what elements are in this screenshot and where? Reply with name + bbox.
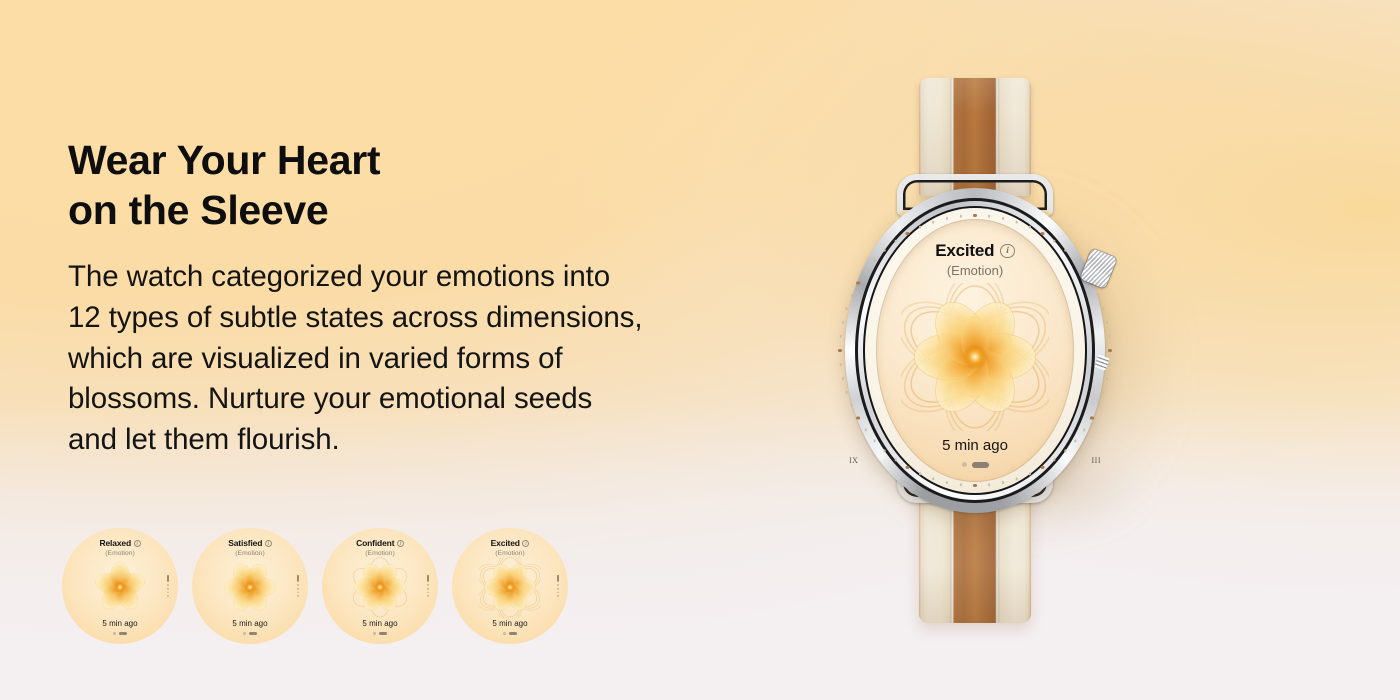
thumbnail-pagination-indicator[interactable] [452,632,568,635]
emotion-timestamp: 5 min ago [876,437,1074,454]
bezel-marker [973,484,977,488]
bezel-marker [960,484,962,486]
bezel-marker [845,391,847,393]
thumbnail-emotion-label: Relaxed [99,538,131,548]
info-icon[interactable]: i [1000,244,1015,259]
thumbnail-timestamp: 5 min ago [322,619,438,628]
bezel-marker [1102,308,1104,310]
thumbnail-emotion-label: Satisfied [228,538,262,548]
thumbnail-bezel-markers [557,575,559,597]
bezel-marker [1090,416,1094,420]
emotion-thumbnail-satisfied[interactable]: Satisfiedi(Emotion)5 min ago [192,528,308,644]
thumbnail-bezel-markers [427,575,429,597]
marketing-copy-block: Wear Your Heart on the Sleeve The watch … [68,136,648,461]
bezel-marker [988,484,990,486]
emotion-title-row: Excited i [876,241,1074,261]
bezel-marker [973,214,977,218]
thumbnail-blossom-graphic [89,556,151,618]
page-title: Wear Your Heart on the Sleeve [68,136,648,235]
pagination-dot[interactable] [113,632,116,635]
bezel-marker [919,226,921,228]
pagination-active-pill[interactable] [972,462,989,469]
emotion-label: Excited [935,241,994,261]
emotion-thumbnail-relaxed[interactable]: Relaxedi(Emotion)5 min ago [62,528,178,644]
bezel-marker [1016,221,1018,223]
thumbnail-blossom-graphic [479,556,541,618]
bezel-marker [919,473,921,475]
numeral-ix: IX [849,456,858,465]
bezel-marker [1002,481,1004,483]
emotion-thumbnail-excited[interactable]: Excitedi(Emotion)5 min ago [452,528,568,644]
thumbnail-emotion-label: Confident [356,538,394,548]
bezel-marker [838,349,842,353]
bezel-marker [856,281,860,285]
pagination-dot[interactable] [373,632,376,635]
thumbnail-pagination-indicator[interactable] [62,632,178,635]
bezel-marker [1074,259,1076,261]
info-icon[interactable]: i [134,540,141,547]
thumbnail-blossom-graphic [219,556,281,618]
emotion-category-label: (Emotion) [876,263,1074,278]
thumbnail-pagination-indicator[interactable] [322,632,438,635]
bezel-marker [865,270,867,272]
thumbnail-blossom-graphic [349,556,411,618]
bezel-marker [988,215,990,217]
thumbnail-timestamp: 5 min ago [192,619,308,628]
info-icon[interactable]: i [397,540,404,547]
bezel-marker [1097,294,1099,296]
bezel-marker [932,478,934,480]
bezel-marker [1097,404,1099,406]
bezel-marker [865,429,867,431]
bezel-marker [1029,226,1031,228]
thumbnail-timestamp: 5 min ago [452,619,568,628]
emotion-blossom-graphic [901,282,1049,430]
pagination-active-pill[interactable] [379,632,387,635]
thumbnail-bezel-markers [297,575,299,597]
pagination-dot[interactable] [243,632,246,635]
pagination-active-pill[interactable] [119,632,127,635]
smartwatch-product-render: XII VI IX III Excited i (Emotion) 5 min … [845,78,1105,623]
bezel-marker [856,416,860,420]
thumbnail-title-row: Excitedi [452,538,568,548]
thumbnail-timestamp: 5 min ago [62,619,178,628]
watch-screen[interactable]: Excited i (Emotion) 5 min ago [876,219,1074,482]
bezel-marker [1016,478,1018,480]
body-paragraph: The watch categorized your emotions into… [68,257,648,461]
bezel-marker [1041,232,1045,236]
thumbnail-pagination-indicator[interactable] [192,632,308,635]
thumbnail-title-row: Satisfiedi [192,538,308,548]
pagination-active-pill[interactable] [249,632,257,635]
pagination-dot[interactable] [503,632,506,635]
bezel-marker [946,481,948,483]
info-icon[interactable]: i [265,540,272,547]
bezel-marker [960,215,962,217]
bezel-marker [1029,473,1031,475]
bezel-marker [845,308,847,310]
watch-case: IX III Excited i (Emotion) 5 min ago [845,188,1105,513]
thumbnail-emotion-label: Excited [491,538,520,548]
emotion-thumbnail-confident[interactable]: Confidenti(Emotion)5 min ago [322,528,438,644]
numeral-iii: III [1092,456,1102,465]
thumbnail-title-row: Confidenti [322,538,438,548]
thumbnail-bezel-markers [167,575,169,597]
bezel-marker [1108,349,1112,353]
bezel-marker [1074,440,1076,442]
bezel-marker [906,232,910,236]
bezel-marker [946,217,948,219]
bezel-marker [1002,217,1004,219]
emotion-thumbnail-strip: Relaxedi(Emotion)5 min agoSatisfiedi(Emo… [62,528,568,644]
info-icon[interactable]: i [522,540,529,547]
pagination-dot[interactable] [962,462,967,467]
thumbnail-title-row: Relaxedi [62,538,178,548]
pagination-active-pill[interactable] [509,632,517,635]
bezel-marker [1102,391,1104,393]
bezel-marker [932,221,934,223]
screen-pagination-indicator[interactable] [876,462,1074,469]
